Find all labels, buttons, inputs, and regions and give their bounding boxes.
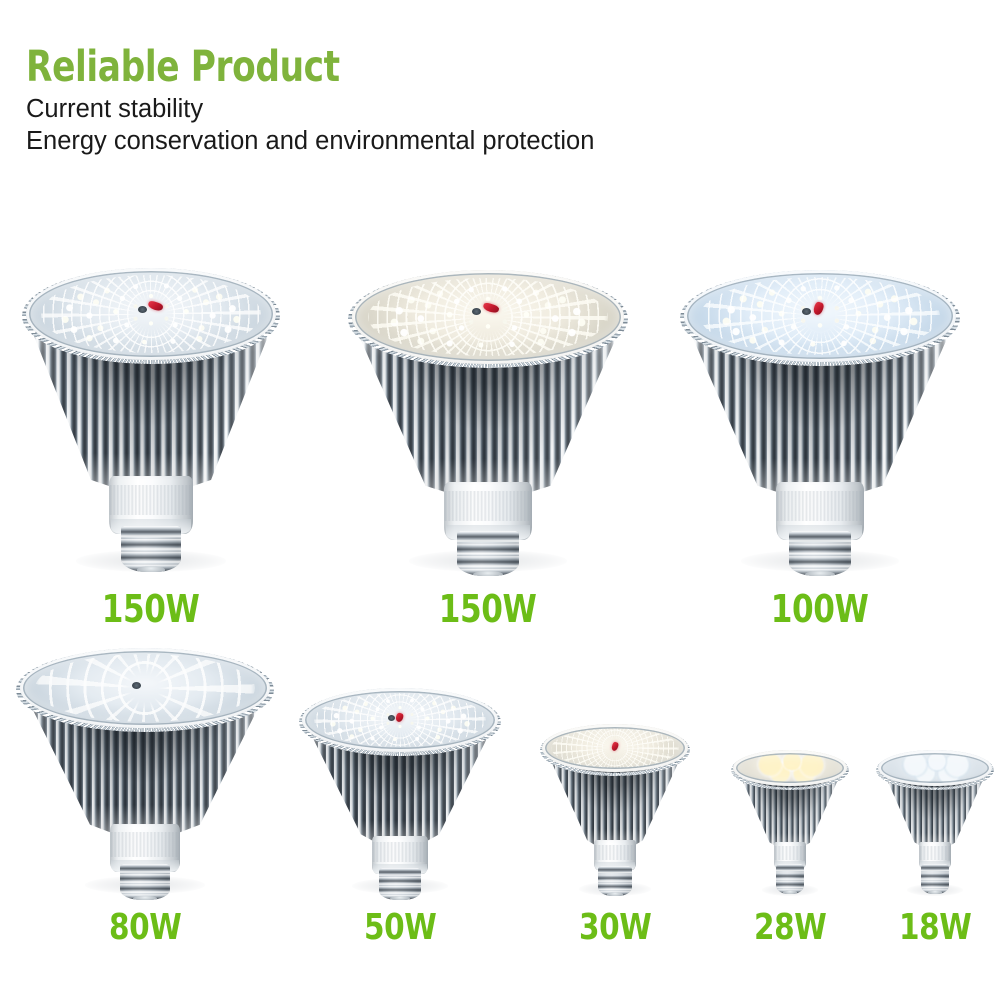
led-face [684, 270, 956, 362]
wattage-label: 150W [439, 590, 537, 628]
bulb-28w [733, 750, 847, 896]
led-face [733, 750, 847, 786]
wattage-label: 30W [579, 910, 651, 946]
product-28w[interactable]: 28W [733, 750, 847, 946]
wattage-label: 100W [771, 590, 869, 628]
sensor-dot-icon [472, 308, 481, 315]
wattage-label: 18W [899, 910, 971, 946]
e27-screw-base [457, 531, 519, 576]
e27-screw-base [921, 864, 949, 894]
small-bulbs-row: 80W [0, 636, 1000, 946]
bulb-80w [20, 648, 270, 896]
led-face [20, 648, 270, 728]
led-face [26, 268, 276, 360]
sensor-dot-icon [388, 715, 395, 721]
bulb-150w-neutral [26, 268, 276, 570]
led-face [878, 750, 992, 786]
wattage-label: 50W [364, 910, 436, 946]
sensor-dot-icon [138, 306, 147, 313]
wattage-label: 28W [754, 910, 826, 946]
page-title: Reliable Product [26, 44, 481, 90]
led-chip-array [740, 753, 840, 783]
e27-screw-base [789, 531, 851, 576]
led-chip-array [885, 753, 985, 783]
header-text-block: Reliable Product Current stability Energ… [26, 44, 594, 157]
bulb-50w [302, 688, 498, 896]
product-100w-cool[interactable]: 100W [684, 270, 956, 628]
subtitle-line-2: Energy conservation and environmental pr… [26, 126, 594, 157]
subtitle-line-1: Current stability [26, 94, 594, 125]
led-chip-array [35, 654, 255, 721]
base-threads [457, 531, 519, 576]
large-bulbs-row: 150W [0, 258, 1000, 628]
product-80w[interactable]: 80W [20, 648, 270, 946]
e27-screw-base [379, 868, 421, 900]
bulb-18w [878, 750, 992, 896]
base-threads [789, 531, 851, 576]
sensor-dot-icon [802, 308, 811, 315]
product-18w[interactable]: 18W [878, 750, 992, 946]
led-face [352, 270, 624, 364]
e27-screw-base [120, 864, 170, 900]
base-threads [120, 864, 170, 900]
product-50w[interactable]: 50W [302, 688, 498, 946]
base-threads [121, 526, 181, 572]
e27-screw-base [776, 864, 804, 894]
wattage-label: 80W [109, 910, 181, 946]
product-150w-warm[interactable]: 150W [352, 270, 624, 628]
wattage-label: 150W [102, 590, 200, 628]
bulb-150w-warm [352, 270, 624, 572]
e27-screw-base [598, 866, 632, 896]
bulb-100w-cool [684, 270, 956, 572]
product-150w-neutral[interactable]: 150W [26, 268, 276, 628]
sensor-dot-icon [132, 682, 141, 689]
e27-screw-base [121, 526, 181, 572]
product-30w[interactable]: 30W [542, 724, 688, 946]
bulb-30w [542, 724, 688, 896]
